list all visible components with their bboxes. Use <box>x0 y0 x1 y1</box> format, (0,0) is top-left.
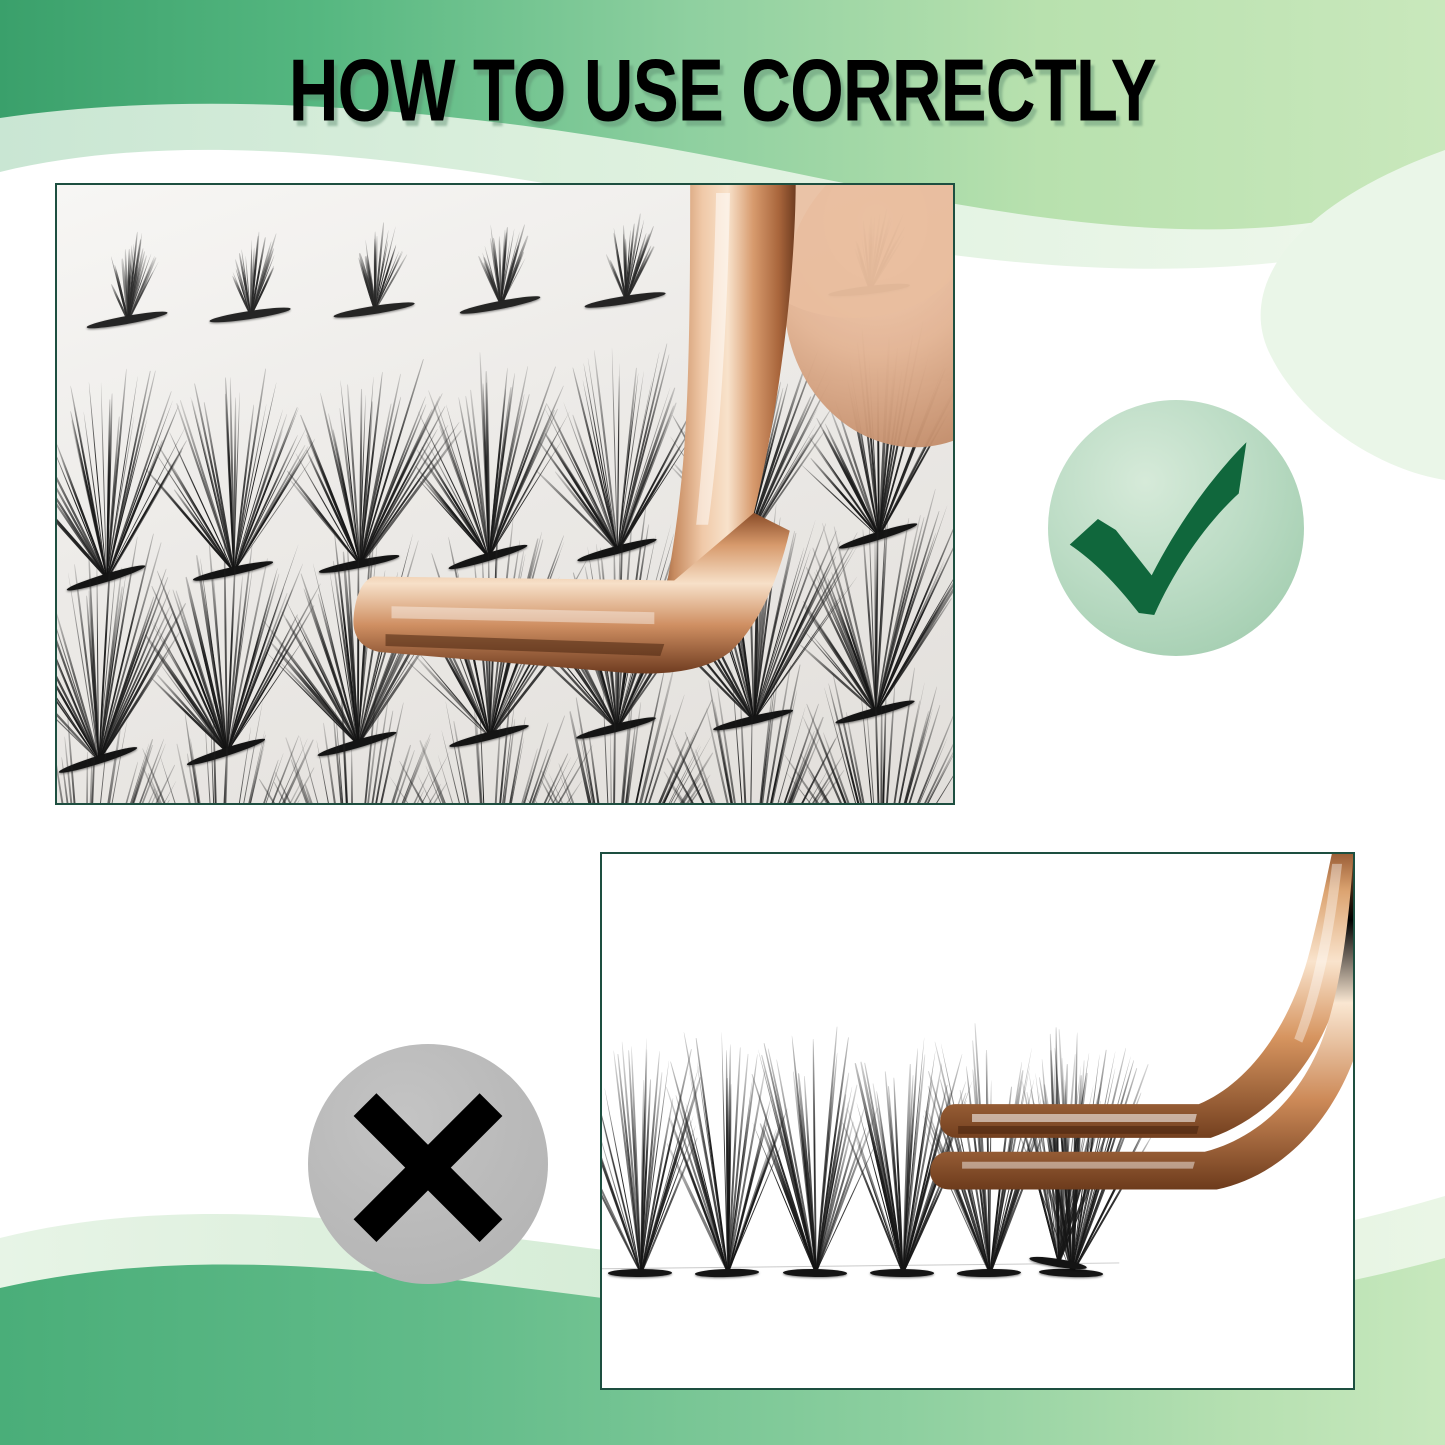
page-title: HOW TO USE CORRECTLY <box>0 46 1445 121</box>
tweezer-highlight <box>972 1114 1197 1122</box>
cross-icon <box>308 1044 548 1284</box>
tweezer-dark-edge <box>958 1126 1199 1134</box>
lash-tray-top-down-photo <box>57 185 953 803</box>
tweezer-incorrect <box>602 854 1353 1388</box>
tweezer-highlight-2 <box>962 1162 1195 1169</box>
check-badge[interactable] <box>1048 400 1304 656</box>
page-title-text: HOW TO USE CORRECTLY <box>289 46 1156 135</box>
infographic-canvas: HOW TO USE CORRECTLY <box>0 0 1445 1445</box>
tweezer-correct <box>57 185 953 803</box>
correct-method-photo[interactable] <box>55 183 955 805</box>
cross-badge[interactable] <box>308 1044 548 1284</box>
incorrect-method-photo[interactable] <box>600 852 1355 1390</box>
check-icon <box>1048 400 1304 656</box>
lash-row-side-view-photo <box>602 854 1353 1388</box>
